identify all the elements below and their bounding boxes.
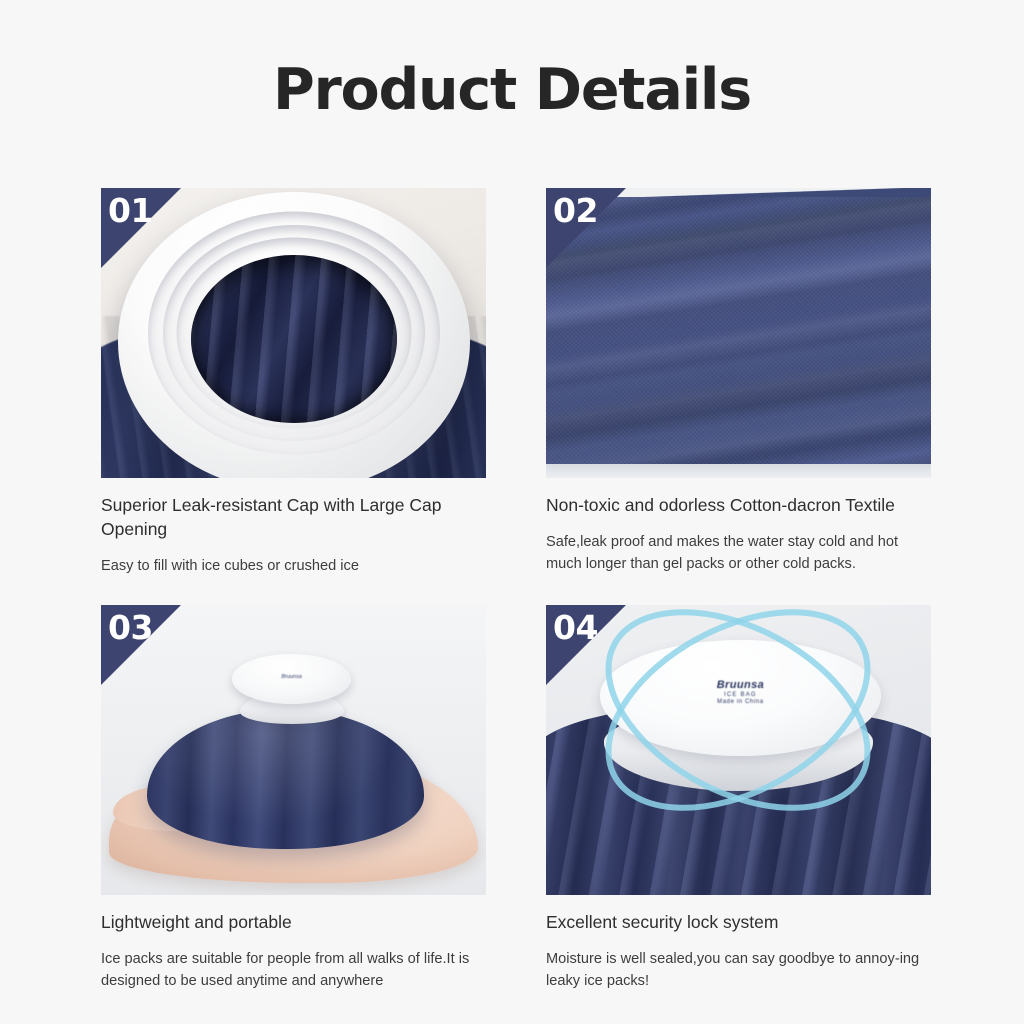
feature-image-02[interactable]: 02 xyxy=(546,188,931,478)
feature-card-04[interactable]: Bruunsa ICE BAG Made in China 04 Excelle… xyxy=(546,605,931,992)
feature-description: Safe,leak proof and makes the water stay… xyxy=(546,531,928,575)
page-title: Product Details xyxy=(0,54,1024,126)
feature-card-02[interactable]: 02 Non-toxic and odorless Cotton-dacron … xyxy=(546,188,931,577)
feature-image-03[interactable]: Bruunsa 03 xyxy=(101,605,486,895)
feature-caption-02: Non-toxic and odorless Cotton-dacron Tex… xyxy=(546,478,931,575)
feature-description: Ice packs are suitable for people from a… xyxy=(101,948,483,992)
feature-image-01[interactable]: 01 xyxy=(101,188,486,478)
badge-number: 04 xyxy=(553,611,598,645)
cap-brand-label: Bruunsa xyxy=(256,674,328,681)
feature-card-01[interactable]: 01 Superior Leak-resistant Cap with Larg… xyxy=(101,188,486,577)
fabric-bottom-strip xyxy=(546,464,931,479)
badge-number: 01 xyxy=(108,194,153,228)
feature-description: Moisture is well sealed,you can say good… xyxy=(546,948,928,992)
ice-bag-cap: Bruunsa ICE BAG Made in China xyxy=(600,640,881,756)
feature-caption-04: Excellent security lock system Moisture … xyxy=(546,895,931,992)
number-badge-04: 04 xyxy=(546,605,626,685)
cap-brand-name: Bruunsa xyxy=(717,679,764,691)
feature-card-03[interactable]: Bruunsa 03 Lightweight and portable Ice … xyxy=(101,605,486,992)
badge-number: 02 xyxy=(553,194,598,228)
cap-brand-label: Bruunsa ICE BAG Made in China xyxy=(717,679,764,705)
feature-description: Easy to fill with ice cubes or crushed i… xyxy=(101,555,483,577)
feature-caption-03: Lightweight and portable Ice packs are s… xyxy=(101,895,486,992)
feature-title: Lightweight and portable xyxy=(101,910,473,934)
feature-caption-01: Superior Leak-resistant Cap with Large C… xyxy=(101,478,486,577)
cap-product-line: ICE BAG xyxy=(717,692,764,698)
cap-origin-text: Made in China xyxy=(717,699,764,705)
feature-grid: 01 Superior Leak-resistant Cap with Larg… xyxy=(101,188,931,992)
feature-title: Superior Leak-resistant Cap with Large C… xyxy=(101,493,473,541)
number-badge-03: 03 xyxy=(101,605,181,685)
feature-image-04[interactable]: Bruunsa ICE BAG Made in China 04 xyxy=(546,605,931,895)
number-badge-02: 02 xyxy=(546,188,626,268)
feature-title: Excellent security lock system xyxy=(546,910,918,934)
badge-number: 03 xyxy=(108,611,153,645)
ice-bag-cap: Bruunsa xyxy=(232,654,351,703)
cap-opening-interior xyxy=(191,255,397,423)
number-badge-01: 01 xyxy=(101,188,181,268)
feature-title: Non-toxic and odorless Cotton-dacron Tex… xyxy=(546,493,918,517)
